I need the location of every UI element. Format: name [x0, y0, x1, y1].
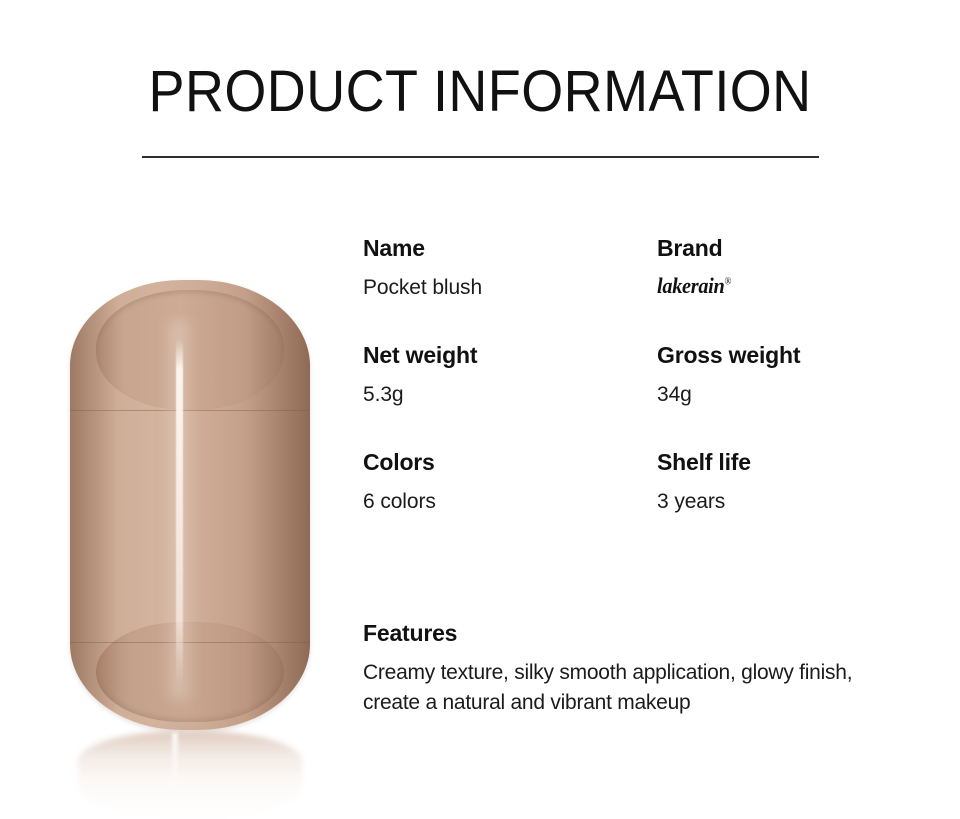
- spec-value: 34g: [657, 381, 923, 408]
- spec-label: Shelf life: [657, 448, 923, 477]
- product-edge-shading-left: [70, 280, 118, 730]
- spec-label: Net weight: [363, 341, 657, 370]
- spec-label: Gross weight: [657, 341, 923, 370]
- features-text: Creamy texture, silky smooth application…: [363, 658, 911, 718]
- product-stick-body: [70, 280, 310, 730]
- spec-label: Brand: [657, 234, 923, 263]
- spec-value: 6 colors: [363, 488, 657, 515]
- spec-label: Name: [363, 234, 657, 263]
- spec-row: Colors 6 colors Shelf life 3 years: [363, 448, 923, 515]
- features-section: Features Creamy texture, silky smooth ap…: [363, 620, 923, 718]
- spec-item-name: Name Pocket blush: [363, 234, 657, 301]
- brand-name-text: lakerain: [657, 273, 725, 298]
- spec-grid: Name Pocket blush Brand lakerain® Net we…: [363, 234, 923, 555]
- spec-item-colors: Colors 6 colors: [363, 448, 657, 515]
- brand-wordmark: lakerain®: [657, 273, 732, 299]
- registered-trademark-icon: ®: [725, 276, 732, 287]
- spec-value: 5.3g: [363, 381, 657, 408]
- product-information-page: PRODUCT INFORMATION Name Pocket blush Br…: [0, 0, 960, 819]
- title-divider: [142, 156, 819, 158]
- spec-item-net-weight: Net weight 5.3g: [363, 341, 657, 408]
- spec-row: Name Pocket blush Brand lakerain®: [363, 234, 923, 301]
- product-specular-highlight: [176, 338, 183, 688]
- page-title: PRODUCT INFORMATION: [34, 62, 927, 123]
- features-label: Features: [363, 620, 923, 647]
- product-reflection-highlight: [172, 733, 178, 799]
- spec-row: Net weight 5.3g Gross weight 34g: [363, 341, 923, 408]
- spec-value: 3 years: [657, 488, 923, 515]
- spec-item-brand: Brand lakerain®: [657, 234, 923, 301]
- product-image: [40, 265, 340, 810]
- product-reflection: [78, 731, 302, 817]
- spec-item-shelf-life: Shelf life 3 years: [657, 448, 923, 515]
- spec-item-gross-weight: Gross weight 34g: [657, 341, 923, 408]
- spec-label: Colors: [363, 448, 657, 477]
- product-edge-shading-right: [248, 280, 310, 730]
- spec-value: Pocket blush: [363, 274, 657, 301]
